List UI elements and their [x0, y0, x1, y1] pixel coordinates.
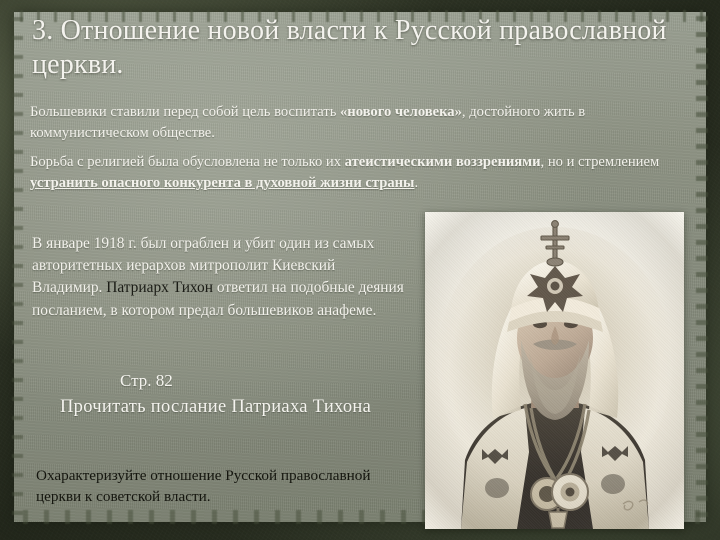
left-column-text: В январе 1918 г. был ограблен и убит оди… [32, 233, 406, 322]
patriarch-tikhon-portrait-illustration [425, 212, 684, 529]
paragraph-2-underlined-emphasis: устранить опасного конкурента в духовной… [30, 175, 414, 191]
paragraph-2-run-5: . [414, 175, 418, 191]
portrait-photo [425, 212, 684, 529]
paragraph-2-run-1: Борьба с религией была обусловлена не то… [30, 154, 345, 170]
patriarch-name-highlight: Патриарх Тихон [106, 279, 213, 296]
presentation-slide: 3. Отношение новой власти к Русской прав… [0, 0, 720, 540]
discussion-question: Охарактеризуйте отношение Русской правос… [36, 465, 416, 508]
page-reference: Стр. 82 [120, 371, 173, 391]
slide-title: 3. Отношение новой власти к Русской прав… [32, 14, 672, 82]
call-to-action-text[interactable]: Прочитать послание Патриаха Тихона [60, 395, 390, 420]
body-paragraph-2: Борьба с религией была обусловлена не то… [30, 152, 694, 193]
paragraph-2-emphasis: атеистическими воззрениями [345, 154, 541, 170]
slide-content: 3. Отношение новой власти к Русской прав… [0, 0, 720, 540]
paragraph-2-run-3: , но и стремлением [541, 154, 660, 170]
body-paragraph-1: Большевики ставили перед собой цель восп… [30, 102, 694, 143]
paragraph-1-emphasis: «нового человека» [340, 104, 462, 120]
paragraph-1-run-1: Большевики ставили перед собой цель восп… [30, 104, 340, 120]
